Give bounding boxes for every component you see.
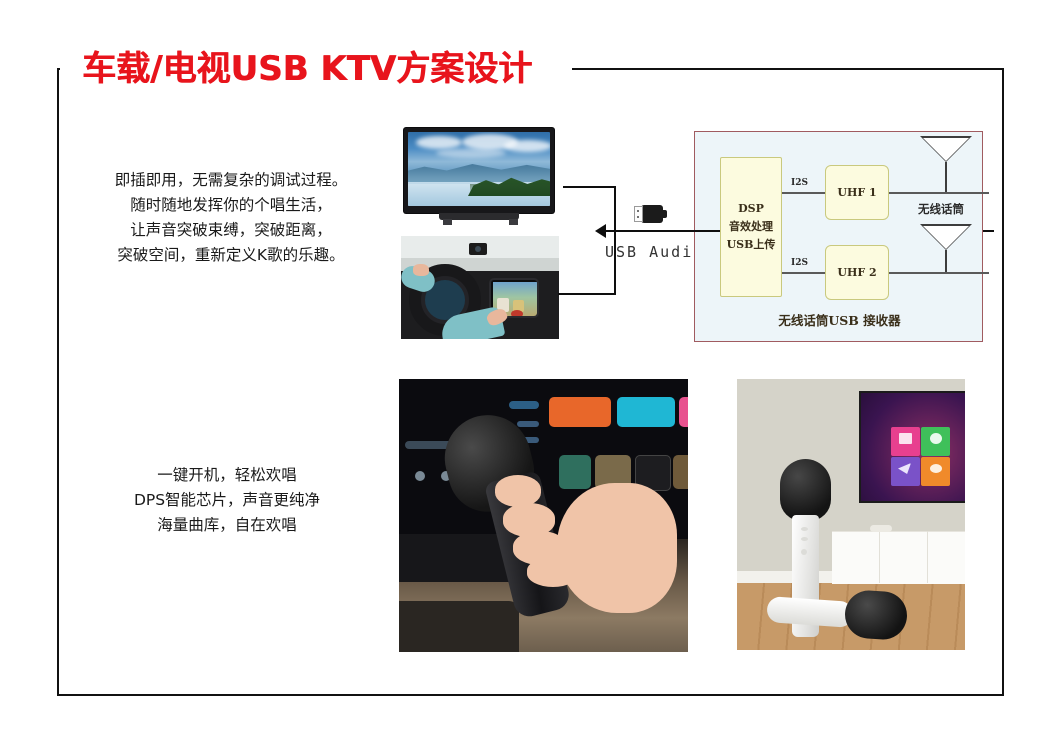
usb-plug-body xyxy=(641,205,663,223)
intro-line-4: 突破空间，重新定义K歌的乐趣。 xyxy=(72,243,390,268)
page-title: 车载/电视USB KTV方案设计 xyxy=(82,41,532,90)
antenna-stem-2 xyxy=(945,250,947,272)
dsp-line-1: DSP xyxy=(738,200,764,218)
connector-line-car xyxy=(558,293,616,295)
dsp-line-2: 音效处理 xyxy=(729,218,773,236)
play-control-icon xyxy=(415,471,425,481)
cabinet-seam xyxy=(879,531,880,583)
cabinet-seam xyxy=(927,531,928,583)
microphone-button[interactable] xyxy=(801,549,807,555)
usb-plug-icon xyxy=(631,203,665,225)
connector-arrow-head xyxy=(595,224,606,238)
i2s-label-1: I2S xyxy=(791,178,808,188)
intro-line-3: 让声音突破束缚，突破距离， xyxy=(72,218,390,243)
media-tile xyxy=(679,397,688,427)
uhf2-label: UHF 2 xyxy=(837,264,876,282)
usb-input-stub xyxy=(685,230,720,232)
uhf1-block: UHF 1 xyxy=(825,165,889,220)
uhf2-block: UHF 2 xyxy=(825,245,889,300)
tv-app-glyph xyxy=(899,433,912,444)
wall-tv xyxy=(859,391,965,503)
microphone-foam-head-2 xyxy=(843,589,908,641)
uhf2-antenna-line xyxy=(889,272,989,274)
microphone-button[interactable] xyxy=(801,527,808,531)
usb-contact-dot xyxy=(637,216,639,218)
usb-plug-metal xyxy=(634,206,643,222)
remote-control xyxy=(870,525,892,532)
antenna-label: 无线话筒 xyxy=(918,201,964,217)
media-label-chip xyxy=(517,421,539,427)
tv-foot xyxy=(443,219,452,225)
hand-palm xyxy=(557,483,677,613)
tv-app-glyph xyxy=(930,464,942,473)
i2s-bus-line-1 xyxy=(782,192,825,194)
feature-line-3: 海量曲库，自在欢唱 xyxy=(82,513,372,538)
intro-line-1: 即插即用，无需复杂的调试过程。 xyxy=(72,168,390,193)
dsp-line-3: USB上传 xyxy=(727,236,776,254)
antenna-inner xyxy=(923,226,969,249)
slide-canvas: 车载/电视USB KTV方案设计 即插即用，无需复杂的调试过程。 随时随地发挥你… xyxy=(0,0,1061,749)
intro-paragraph: 即插即用，无需复杂的调试过程。 随时随地发挥你的个唱生活， 让声音突破束缚，突破… xyxy=(72,168,390,268)
diagram-caption: 无线话筒USB 接收器 xyxy=(695,310,984,329)
connector-line-vertical xyxy=(614,186,616,295)
microphone-foam-head xyxy=(780,459,831,521)
tv-app-glyph xyxy=(930,433,942,444)
i2s-label-2: I2S xyxy=(791,258,808,268)
reflection-shape xyxy=(470,184,550,196)
mics-with-tv-photo xyxy=(737,379,965,650)
tv-bezel xyxy=(404,128,554,213)
media-tile xyxy=(559,455,591,489)
hand-finger xyxy=(495,475,541,507)
intro-line-2: 随时随地发挥你的个唱生活， xyxy=(72,193,390,218)
feature-line-2: DPS智能芯片，声音更纯净 xyxy=(82,488,372,513)
features-paragraph: 一键开机，轻松欢唱 DPS智能芯片，声音更纯净 海量曲库，自在欢唱 xyxy=(82,463,372,538)
antenna-stem-1 xyxy=(945,162,947,192)
antenna-icon-1 xyxy=(920,136,972,162)
dsp-block: DSP 音效处理 USB上传 xyxy=(720,157,782,297)
antenna-inner xyxy=(923,138,969,161)
usb-contact-dot xyxy=(637,210,639,212)
media-tile xyxy=(673,455,688,489)
usb-plug-tip xyxy=(661,210,667,218)
car-interior-photo xyxy=(401,236,559,339)
lower-console-panel xyxy=(399,601,519,652)
screen-tile xyxy=(511,310,523,318)
driver-hand xyxy=(413,264,429,276)
cloud-shape xyxy=(504,140,550,152)
connector-line-tv xyxy=(563,186,616,188)
mic-in-car-photo xyxy=(399,379,688,652)
cloud-shape xyxy=(416,136,462,149)
media-tile xyxy=(549,397,611,427)
tv-screen xyxy=(408,132,550,206)
cloud-shape xyxy=(436,148,506,158)
tv-photo xyxy=(399,126,564,232)
antenna-icon-2 xyxy=(920,224,972,250)
media-label-chip xyxy=(509,401,539,409)
tv-cabinet xyxy=(832,531,965,584)
uhf1-label: UHF 1 xyxy=(837,184,876,202)
mountain-shape xyxy=(408,160,550,182)
uhf1-antenna-line xyxy=(889,192,989,194)
media-tile xyxy=(617,397,675,427)
tv-foot xyxy=(509,219,518,225)
microphone-button[interactable] xyxy=(801,537,808,541)
dashcam xyxy=(469,243,487,255)
i2s-bus-line-2 xyxy=(782,272,825,274)
feature-line-1: 一键开机，轻松欢唱 xyxy=(82,463,372,488)
usb-audio-label: USB Audio xyxy=(605,243,704,261)
